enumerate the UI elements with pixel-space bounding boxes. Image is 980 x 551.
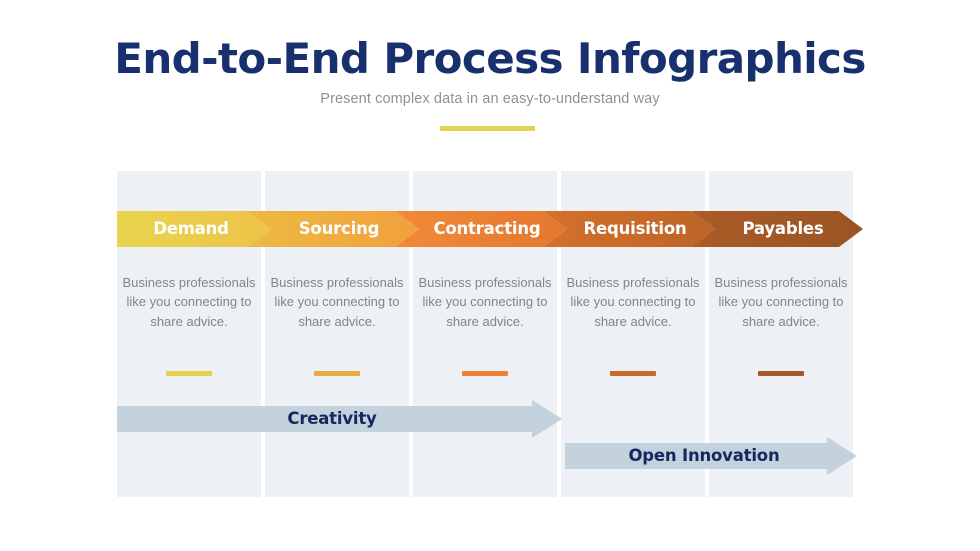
open-innovation-arrow-shape [565,437,857,475]
process-step-description: Business professionals like you connecti… [709,273,853,331]
process-step-description: Business professionals like you connecti… [561,273,705,331]
process-arrow-segment [691,211,863,247]
process-arrow-segment [117,211,271,247]
page-subtitle: Present complex data in an easy-to-under… [0,91,980,107]
process-step-accent-rule [758,371,804,376]
process-step-description: Business professionals like you connecti… [265,273,409,331]
process-step-accent-rule [462,371,508,376]
process-step-accent-rule [314,371,360,376]
page-title: End-to-End Process Infographics [0,36,980,81]
title-divider [440,126,535,131]
slide-header: End-to-End Process Infographics Present … [0,36,980,107]
process-step-accent-rule [610,371,656,376]
process-arrow-segment [395,211,567,247]
process-arrow-segment [247,211,419,247]
creativity-arrow [117,400,562,438]
infographic-slide: End-to-End Process Infographics Present … [0,0,980,551]
process-step-accent-rule [166,371,212,376]
open-innovation-arrow [565,437,857,475]
process-arrow-band: Demand Sourcing Contracting Requisition … [117,207,863,251]
process-arrow-segment [543,211,715,247]
creativity-arrow-shape [117,400,562,438]
process-step-description: Business professionals like you connecti… [413,273,557,331]
process-step-description: Business professionals like you connecti… [117,273,261,331]
